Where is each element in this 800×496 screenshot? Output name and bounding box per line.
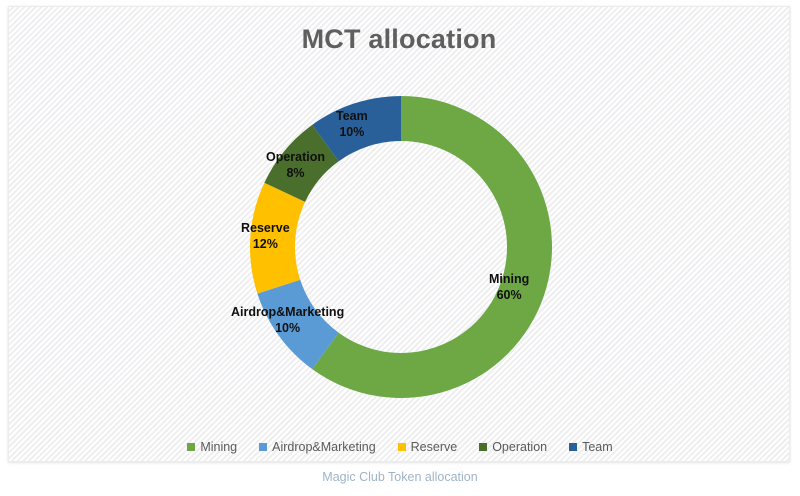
- legend-item-reserve[interactable]: Reserve: [398, 440, 458, 454]
- donut-slice-group: [250, 96, 552, 398]
- legend-swatch-icon: [479, 443, 487, 451]
- chart-caption: Magic Club Token allocation: [0, 470, 800, 484]
- donut-slice-reserve[interactable]: [250, 183, 305, 294]
- legend-item-label: Airdrop&Marketing: [272, 440, 376, 454]
- legend-item-label: Mining: [200, 440, 237, 454]
- legend-swatch-icon: [398, 443, 406, 451]
- donut-chart: Mining60%Airdrop&Marketing10%Reserve12%O…: [9, 7, 791, 427]
- legend-item-label: Team: [582, 440, 613, 454]
- legend-item-mining[interactable]: Mining: [187, 440, 237, 454]
- legend-item-label: Reserve: [411, 440, 458, 454]
- legend-item-operation[interactable]: Operation: [479, 440, 547, 454]
- legend-item-label: Operation: [492, 440, 547, 454]
- legend-swatch-icon: [259, 443, 267, 451]
- legend-swatch-icon: [187, 443, 195, 451]
- legend-swatch-icon: [569, 443, 577, 451]
- legend-item-team[interactable]: Team: [569, 440, 613, 454]
- chart-screenshot: MCT allocation Mining60%Airdrop&Marketin…: [0, 0, 800, 496]
- legend-item-airdrop-marketing[interactable]: Airdrop&Marketing: [259, 440, 376, 454]
- donut-chart-svg: [9, 7, 791, 427]
- chart-card: MCT allocation Mining60%Airdrop&Marketin…: [8, 6, 790, 462]
- chart-legend: MiningAirdrop&MarketingReserveOperationT…: [9, 440, 791, 454]
